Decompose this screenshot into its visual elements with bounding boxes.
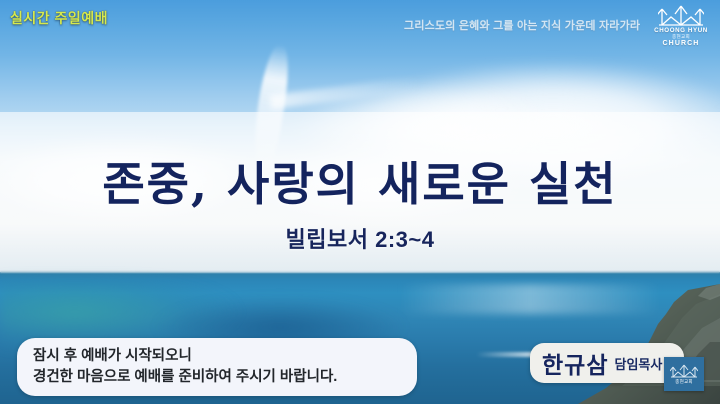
preacher-name-box: 한규삼 담임목사 — [530, 343, 684, 383]
church-logo: CHOONG HYUN 충현교회 CHURCH — [648, 4, 714, 48]
church-badge: 충현교회 — [664, 357, 704, 391]
badge-korean-text: 충현교회 — [675, 379, 693, 385]
preacher-name: 한규삼 — [542, 346, 608, 380]
live-service-badge: 실시간 주일예배 — [10, 8, 108, 28]
church-tagline: 그리스도의 은혜와 그를 아는 지식 가운데 자라가라 — [404, 17, 640, 33]
logo-korean-text: 충현교회 — [672, 34, 690, 40]
worship-stream-slide: 실시간 주일예배 그리스도의 은혜와 그를 아는 지식 가운데 자라가라 CHO… — [0, 0, 720, 404]
scripture-reference: 빌립보서 2:3~4 — [0, 222, 720, 254]
preacher-role: 담임목사 — [614, 354, 662, 373]
horizon-line — [0, 271, 720, 273]
crown-icon — [658, 4, 704, 26]
notice-line-2: 경건한 마음으로 예배를 준비하여 주시기 바랍니다. — [33, 367, 417, 388]
notice-line-1: 잠시 후 예배가 시작되오니 — [33, 346, 417, 367]
service-notice-box: 잠시 후 예배가 시작되오니 경건한 마음으로 예배를 준비하여 주시기 바랍니… — [17, 338, 417, 396]
sermon-title: 존중, 사랑의 새로운 실천 — [0, 148, 720, 214]
logo-sub-text: CHURCH — [663, 40, 700, 47]
crown-icon — [670, 364, 698, 378]
logo-name-text: CHOONG HYUN — [654, 27, 708, 34]
